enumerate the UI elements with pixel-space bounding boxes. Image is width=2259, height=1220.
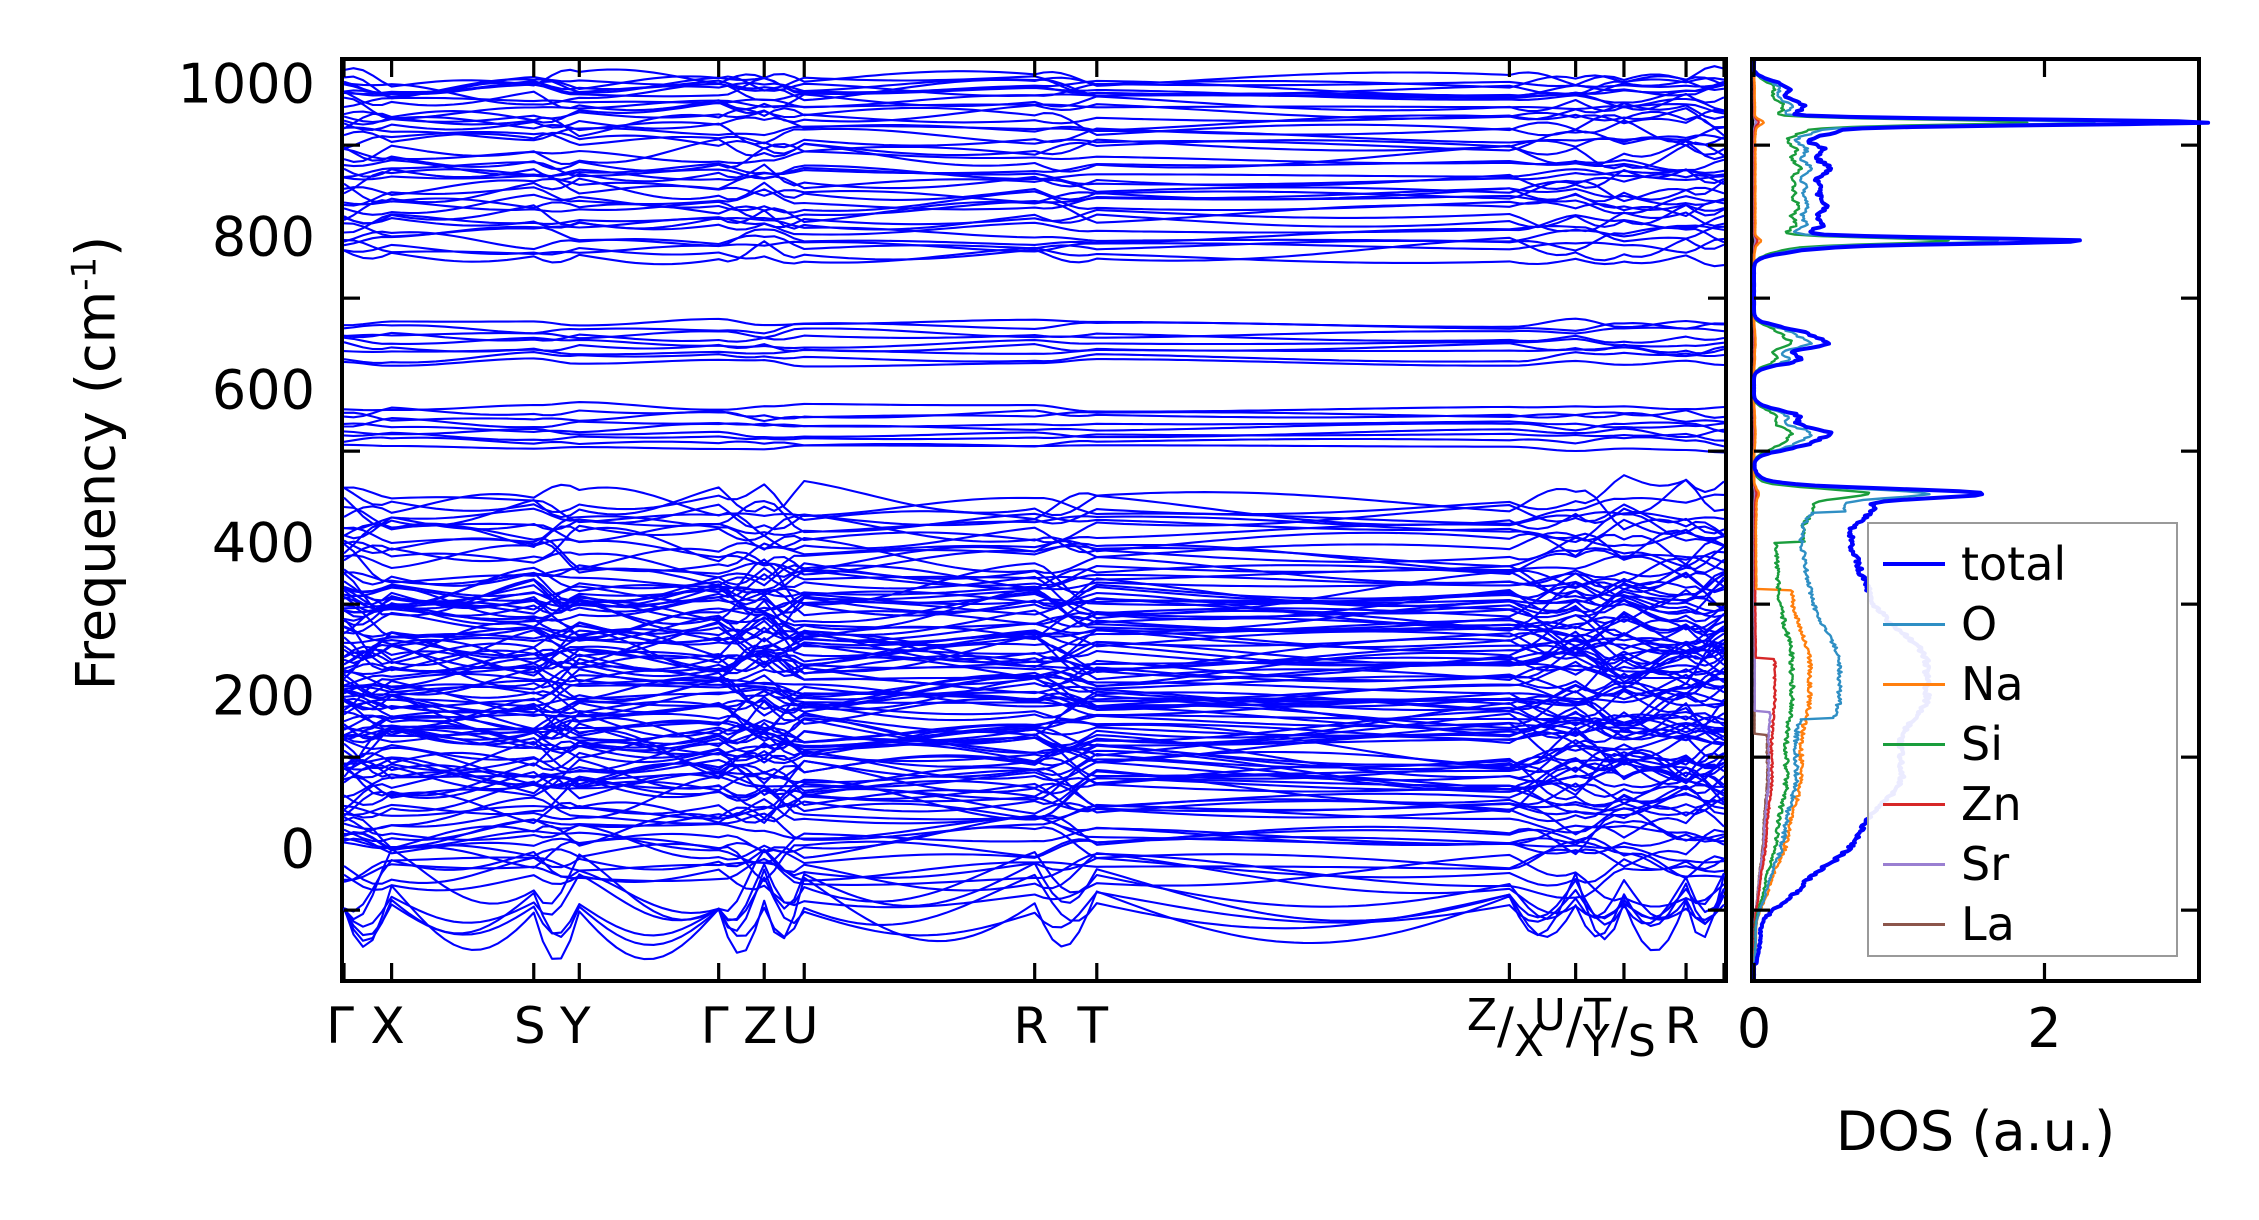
legend-item-la[interactable]: La — [1869, 894, 2176, 954]
legend-label: O — [1961, 601, 1997, 647]
k-tick-label-5: Z — [743, 997, 777, 1055]
legend-swatch-sr-icon — [1883, 863, 1945, 866]
legend-swatch-zn-icon — [1883, 803, 1945, 806]
figure-canvas: Frequency (cm-1) 10008006004002000 ΓXSYΓ… — [0, 0, 2259, 1220]
y-axis-label: Frequency (cm-1) — [65, 236, 128, 690]
k-tick-label-12: R — [1665, 997, 1700, 1055]
k-tick-label-2: S — [514, 997, 546, 1055]
legend-item-sr[interactable]: Sr — [1869, 834, 2176, 894]
k-tick-slash: / — [1497, 997, 1514, 1055]
k-tick-denominator: S — [1628, 1016, 1656, 1067]
legend-item-na[interactable]: Na — [1869, 654, 2176, 714]
legend-swatch-na-icon — [1883, 683, 1945, 686]
k-tick-numerator: U — [1534, 990, 1566, 1041]
y-axis-label-main: Frequency (cm — [65, 291, 128, 691]
legend-item-zn[interactable]: Zn — [1869, 774, 2176, 834]
y-tick-label-400: 400 — [212, 512, 315, 575]
k-tick-label-3: Y — [560, 997, 591, 1055]
band-curves — [344, 66, 1724, 959]
y-axis-label-tail: ) — [65, 236, 128, 257]
legend-swatch-o-icon — [1883, 623, 1945, 626]
legend-swatch-si-icon — [1883, 743, 1945, 746]
y-tick-label-200: 200 — [212, 665, 315, 728]
band-structure-plot — [344, 61, 1724, 979]
legend-swatch-la-icon — [1883, 923, 1945, 926]
legend-swatch-total-icon — [1883, 562, 1945, 566]
legend-box[interactable]: totalONaSiZnSrLa — [1867, 522, 2178, 957]
band-structure-axes — [340, 57, 1728, 983]
legend-label: Zn — [1961, 781, 2022, 827]
k-tick-label-1: X — [370, 997, 404, 1055]
k-tick-slash: / — [1566, 997, 1583, 1055]
dos-x-axis-tick-labels: 02 — [1750, 997, 2201, 1077]
k-tick-label-9: Z/X — [1467, 997, 1544, 1055]
y-axis-label-wrap: Frequency (cm-1) — [66, 0, 126, 926]
dos-x-tick-label-0: 0 — [1737, 997, 1771, 1060]
k-path-tick-labels: ΓXSYΓZURTZ/XU/YT/SR — [340, 997, 1728, 1087]
legend-label: Si — [1961, 721, 2003, 767]
legend-label: total — [1961, 541, 2066, 587]
y-tick-label-600: 600 — [212, 359, 315, 422]
k-tick-label-6: U — [782, 997, 819, 1055]
y-tick-label-800: 800 — [212, 206, 315, 269]
legend-item-o[interactable]: O — [1869, 594, 2176, 654]
legend-label: Na — [1961, 661, 2024, 707]
y-axis-tick-labels: 10008006004002000 — [120, 0, 315, 926]
k-tick-label-4: Γ — [701, 997, 729, 1055]
y-axis-label-exponent: -1 — [65, 257, 105, 291]
k-tick-slash: / — [1611, 997, 1628, 1055]
dos-x-axis-label: DOS (a.u.) — [1750, 1100, 2201, 1163]
y-tick-label-0: 0 — [281, 818, 315, 881]
legend-label: Sr — [1961, 841, 2009, 887]
k-tick-label-8: T — [1078, 997, 1109, 1055]
k-tick-numerator: T — [1584, 990, 1611, 1041]
legend-label: La — [1961, 901, 2015, 947]
legend-item-si[interactable]: Si — [1869, 714, 2176, 774]
y-tick-label-1000: 1000 — [178, 53, 315, 116]
k-tick-label-11: T/S — [1584, 997, 1656, 1055]
k-tick-numerator: Z — [1467, 990, 1497, 1041]
legend-item-total[interactable]: total — [1869, 534, 2176, 594]
k-tick-label-7: R — [1013, 997, 1048, 1055]
dos-x-tick-label-2: 2 — [2027, 997, 2061, 1060]
k-tick-label-0: Γ — [326, 997, 354, 1055]
